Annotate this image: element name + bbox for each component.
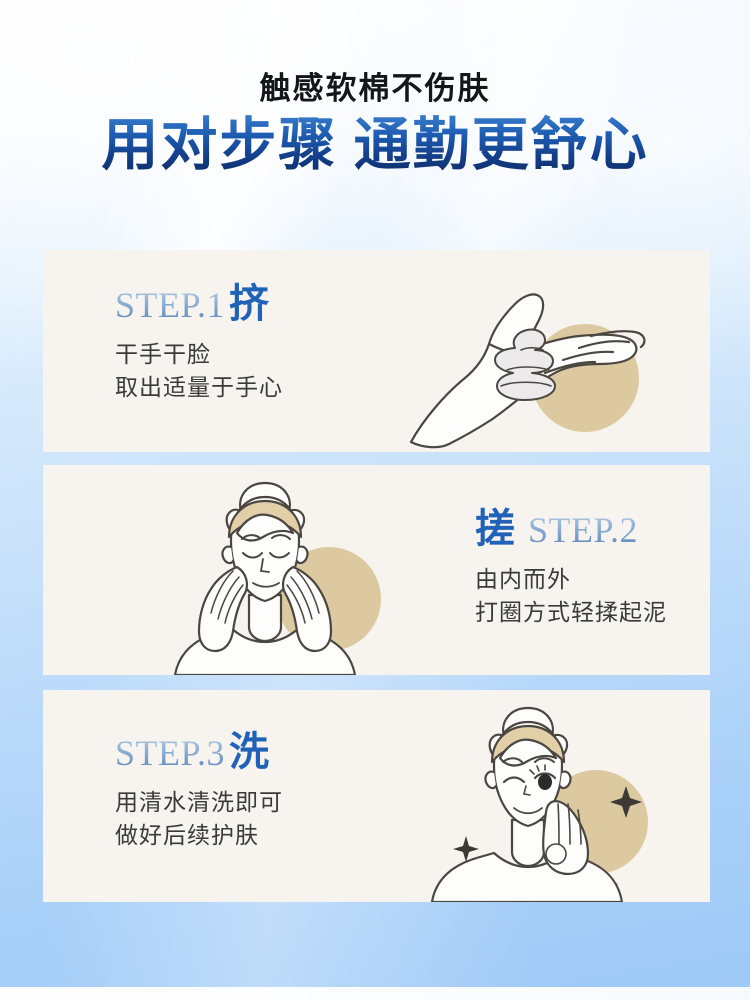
step-2-description: 由内而外 打圈方式轻揉起泥: [475, 563, 667, 628]
step-3-text-block: STEP.3 洗 用清水清洗即可 做好后续护肤: [115, 732, 283, 851]
step-card-1: STEP.1 挤 干手干脸 取出适量于手心: [43, 250, 710, 452]
step-2-description-line-2: 打圈方式轻揉起泥: [475, 596, 667, 629]
step-3-description-line-2: 做好后续护肤: [115, 819, 283, 852]
step-1-illustration: [403, 252, 703, 450]
step-1-description-line-2: 取出适量于手心: [115, 371, 283, 404]
step-1-description: 干手干脸 取出适量于手心: [115, 338, 283, 403]
step-2-label: 搓 STEP.2: [475, 509, 667, 549]
step-1-text-block: STEP.1 挤 干手干脸 取出适量于手心: [115, 284, 283, 403]
step-2-label-cn: 搓: [475, 509, 516, 549]
step-2-description-line-1: 由内而外: [475, 563, 667, 596]
page-title: 用对步骤 通勤更舒心: [0, 114, 750, 178]
step-3-label: STEP.3 洗: [115, 732, 283, 772]
step-1-label: STEP.1 挤: [115, 284, 283, 324]
step-1-label-en: STEP.1: [115, 287, 225, 323]
heading-subtitle: 触感软棉不伤肤: [0, 72, 750, 107]
step-3-label-en: STEP.3: [115, 735, 225, 771]
step-3-illustration: [418, 694, 710, 902]
step-card-2: 搓 STEP.2 由内而外 打圈方式轻揉起泥: [43, 465, 710, 675]
step-2-text-block: 搓 STEP.2 由内而外 打圈方式轻揉起泥: [475, 509, 667, 628]
step-3-description-line-1: 用清水清洗即可: [115, 786, 283, 819]
step-card-3: STEP.3 洗 用清水清洗即可 做好后续护肤: [43, 690, 710, 902]
step-2-illustration: [153, 467, 453, 675]
step-3-description: 用清水清洗即可 做好后续护肤: [115, 786, 283, 851]
step-1-label-cn: 挤: [229, 284, 270, 324]
page-heading: 触感软棉不伤肤 用对步骤 通勤更舒心: [0, 72, 750, 178]
step-1-description-line-1: 干手干脸: [115, 338, 283, 371]
step-2-label-en: STEP.2: [528, 512, 638, 548]
step-3-label-cn: 洗: [229, 732, 270, 772]
